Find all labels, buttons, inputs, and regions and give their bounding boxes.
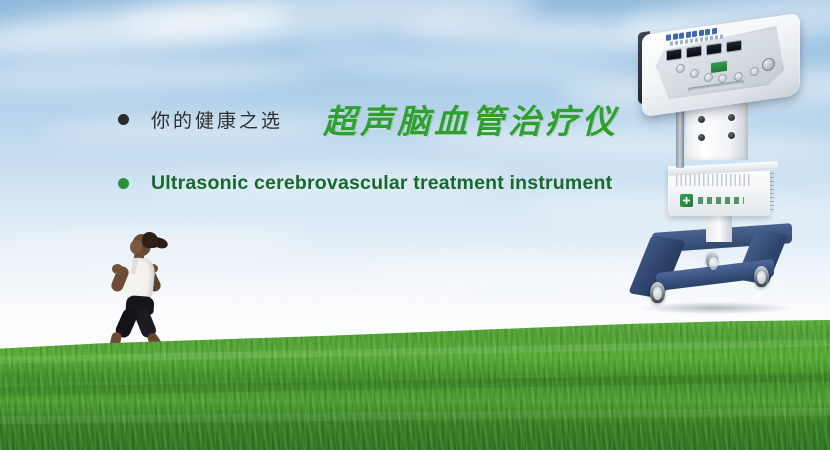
headline-row: 你的健康之选 超声脑血管治疗仪: [118, 95, 619, 143]
manufacturer-name-mark: [698, 197, 744, 204]
jogging-woman: [96, 228, 201, 358]
product-headline: 超声脑血管治疗仪: [323, 95, 619, 143]
bullet-dot-green-icon: [118, 178, 129, 189]
product-hero-banner: 你的健康之选 超声脑血管治疗仪 Ultrasonic cerebrovascul…: [0, 0, 830, 450]
tagline-text: 你的健康之选: [151, 106, 283, 133]
caster-wheel: [706, 252, 718, 268]
led-display-segment: [666, 48, 682, 61]
cart-column-rail: [676, 106, 684, 168]
caster-wheel: [650, 282, 665, 303]
led-display-segment: [706, 42, 722, 55]
product-subheadline: Ultrasonic cerebrovascular treatment ins…: [151, 172, 612, 195]
runner-hair: [142, 232, 158, 248]
console-center-logo-icon: [710, 60, 728, 75]
cart-ground-shadow: [640, 302, 790, 314]
subheadline-row: Ultrasonic cerebrovascular treatment ins…: [118, 172, 612, 195]
runner-front-fist: [112, 264, 123, 274]
led-display-segment: [686, 45, 702, 58]
cart-column: [686, 102, 748, 160]
basket-vent-slots: [676, 174, 750, 186]
connector-port-icon: [728, 114, 735, 121]
connector-port-icon: [698, 116, 705, 123]
bullet-dot-dark-icon: [118, 114, 129, 125]
banner-copy-block: 你的健康之选 超声脑血管治疗仪 Ultrasonic cerebrovascul…: [0, 0, 640, 230]
led-display-segment: [726, 40, 742, 53]
ultrasonic-treatment-instrument-cart: [610, 14, 820, 314]
connector-port-icon: [728, 132, 735, 139]
connector-port-icon: [698, 134, 705, 141]
caster-wheel: [754, 266, 769, 287]
